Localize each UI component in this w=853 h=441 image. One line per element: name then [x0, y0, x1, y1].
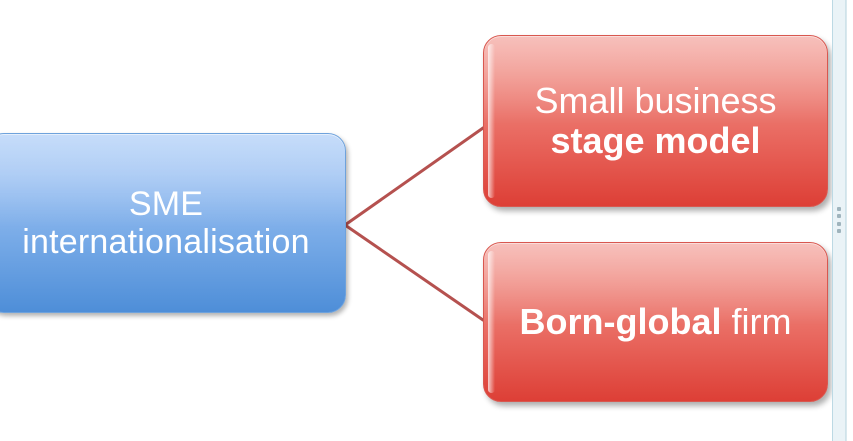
connector-to-born-global: [345, 225, 483, 320]
node-stage-model-label-line2: stage model: [550, 120, 760, 161]
pane-edge-divider: [846, 0, 847, 441]
node-sme-label: SME internationalisation: [0, 185, 345, 261]
grip-dot: [837, 229, 841, 233]
node-stage-model-label: Small business stage model: [484, 81, 827, 162]
pane-splitter[interactable]: [832, 0, 846, 441]
node-born-global-label-line1: Born-global: [520, 301, 722, 342]
grip-dot: [837, 222, 841, 226]
slide-canvas: SME internationalisation Small business …: [0, 0, 853, 441]
grip-dot: [837, 207, 841, 211]
splitter-grip-icon[interactable]: [837, 207, 841, 233]
node-born-global-label-line2: firm: [722, 301, 792, 342]
node-born-global-firm[interactable]: Born-global firm: [483, 242, 828, 402]
node-born-global-label: Born-global firm: [484, 302, 827, 342]
node-sme-label-line2: internationalisation: [22, 223, 310, 261]
node-stage-model-label-line1: Small business: [534, 80, 776, 121]
node-small-business-stage-model[interactable]: Small business stage model: [483, 35, 828, 207]
connector-to-stage-model: [345, 128, 483, 225]
node-sme-label-line1: SME: [129, 185, 203, 223]
node-sme-internationalisation[interactable]: SME internationalisation: [0, 133, 346, 313]
grip-dot: [837, 214, 841, 218]
